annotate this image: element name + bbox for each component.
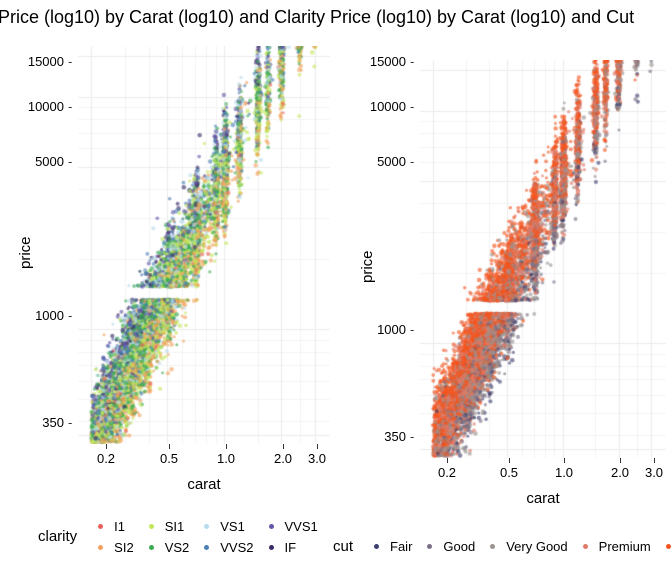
- y-tick-label-10000-right: 10000: [336, 100, 406, 113]
- legend-clarity: clarity I1SI2SI1VS2VS1VVS2VVS1IF: [38, 516, 322, 558]
- legend-cut-item-premium[interactable]: Premium: [572, 536, 655, 557]
- legend-item-label: Fair: [390, 540, 412, 554]
- legend-item-label: IF: [285, 541, 297, 555]
- legend-swatch-icon: [204, 524, 209, 529]
- y-tick-mark-15000-left: -: [68, 55, 72, 68]
- legend-item-label: I1: [114, 520, 125, 534]
- x-tick-mark-1.0-left: [226, 444, 227, 449]
- plot-cut: 15000 - 10000 - 5000 - 1000 - 350 - 0.2 …: [336, 34, 672, 500]
- x-tick-mark-0.2-left: [106, 444, 107, 449]
- x-tick-mark-0.5-left: [169, 444, 170, 449]
- x-tick-label-3.0-left: 3.0: [308, 452, 326, 465]
- x-tick-mark-3.0-left: [317, 444, 318, 449]
- legend-clarity-item-si2[interactable]: SI2: [87, 537, 138, 558]
- legend-item-label: Good: [443, 540, 475, 554]
- legend-swatch-icon: [583, 544, 588, 549]
- legend-item-label: SI1: [165, 520, 185, 534]
- legend-swatch-icon: [269, 524, 274, 529]
- plot-title-cut: Price (log10) by Carat (log10) and Cut: [330, 6, 634, 28]
- figure-canvas: Price (log10) by Carat (log10) and Clari…: [0, 0, 672, 576]
- y-tick-mark-10000-left: -: [68, 100, 72, 113]
- x-tick-label-0.2-left: 0.2: [97, 452, 115, 465]
- legend-swatch-icon: [98, 545, 103, 550]
- plot-panel-cut: [420, 60, 666, 458]
- y-tick-label-10000-left: 10000: [0, 100, 64, 113]
- y-tick-label-350-left: 350: [0, 416, 64, 429]
- x-tick-label-1.0-left: 1.0: [217, 452, 235, 465]
- legend-item-label: Very Good: [506, 540, 567, 554]
- legend-clarity-item-vvs1[interactable]: VVS1: [258, 516, 322, 537]
- legend-swatch-icon: [269, 545, 274, 550]
- y-tick-mark-10000-right: -: [410, 100, 414, 113]
- y-tick-mark-1000-right: -: [410, 323, 414, 336]
- legend-swatch-icon: [149, 524, 154, 529]
- legend-item-label: Premium: [599, 540, 651, 554]
- scatter-points-clarity: [78, 46, 330, 444]
- x-tick-label-0.5-left: 0.5: [160, 452, 178, 465]
- scatter-points-cut: [420, 60, 666, 458]
- legend-cut: cut FairGoodVery GoodPremiumIdeal: [333, 536, 672, 557]
- legend-cut-item-ideal[interactable]: Ideal: [655, 536, 672, 557]
- x-tick-label-0.5-right: 0.5: [500, 466, 518, 479]
- y-tick-label-1000-right: 1000: [336, 323, 406, 336]
- legend-swatch-icon: [666, 544, 671, 549]
- y-tick-label-5000-right: 5000: [336, 155, 406, 168]
- x-tick-label-1.0-right: 1.0: [555, 466, 573, 479]
- y-tick-label-350-right: 350: [336, 430, 406, 443]
- x-tick-mark-2.0-left: [283, 444, 284, 449]
- legend-item-label: VS2: [165, 541, 190, 555]
- y-tick-label-5000-left: 5000: [0, 155, 64, 168]
- legend-cut-item-very-good[interactable]: Very Good: [479, 536, 571, 557]
- legend-clarity-item-vs2[interactable]: VS2: [138, 537, 194, 558]
- x-tick-mark-0.2-right: [447, 458, 448, 463]
- legend-clarity-item-i1[interactable]: I1: [87, 516, 138, 537]
- y-tick-mark-350-left: -: [68, 416, 72, 429]
- legend-swatch-icon: [490, 544, 495, 549]
- legend-swatch-icon: [204, 545, 209, 550]
- legend-clarity-item-vs1[interactable]: VS1: [193, 516, 257, 537]
- legend-clarity-item-vvs2[interactable]: VVS2: [193, 537, 257, 558]
- x-axis-title-left: carat: [187, 477, 220, 493]
- legend-swatch-icon: [98, 524, 103, 529]
- legend-title-cut: cut: [333, 539, 353, 555]
- legend-clarity-item-if[interactable]: IF: [258, 537, 322, 558]
- y-tick-mark-1000-left: -: [68, 309, 72, 322]
- legend-swatch-icon: [427, 544, 432, 549]
- plot-panel-clarity: [78, 46, 330, 444]
- x-tick-label-0.2-right: 0.2: [438, 466, 456, 479]
- y-tick-mark-5000-left: -: [68, 155, 72, 168]
- legend-swatch-icon: [374, 544, 379, 549]
- legend-item-label: VVS1: [285, 520, 318, 534]
- legend-clarity-items: I1SI2SI1VS2VS1VVS2VVS1IF: [87, 516, 322, 558]
- x-tick-mark-0.5-right: [509, 458, 510, 463]
- y-axis-title-right: price: [360, 250, 376, 283]
- legend-item-label: VS1: [220, 520, 245, 534]
- x-tick-mark-3.0-right: [654, 458, 655, 463]
- x-tick-mark-1.0-right: [564, 458, 565, 463]
- x-tick-mark-2.0-right: [620, 458, 621, 463]
- legend-cut-item-fair[interactable]: Fair: [363, 536, 416, 557]
- y-tick-label-1000-left: 1000: [0, 309, 64, 322]
- legend-cut-items: FairGoodVery GoodPremiumIdeal: [363, 536, 672, 557]
- legend-title-clarity: clarity: [38, 529, 77, 545]
- y-tick-mark-15000-right: -: [410, 55, 414, 68]
- y-tick-mark-350-right: -: [410, 430, 414, 443]
- y-tick-mark-5000-right: -: [410, 155, 414, 168]
- legend-cut-item-good[interactable]: Good: [416, 536, 479, 557]
- legend-item-label: VVS2: [220, 541, 253, 555]
- y-axis-title-left: price: [18, 236, 34, 269]
- x-tick-label-2.0-left: 2.0: [274, 452, 292, 465]
- plot-clarity: 15000 - 10000 - 5000 - 1000 - 350 - 0.2 …: [0, 34, 336, 500]
- y-tick-label-15000-right: 15000: [336, 55, 406, 68]
- plot-title-clarity: Price (log10) by Carat (log10) and Clari…: [0, 6, 325, 28]
- legend-item-label: SI2: [114, 541, 134, 555]
- legend-swatch-icon: [149, 545, 154, 550]
- legend-clarity-item-si1[interactable]: SI1: [138, 516, 194, 537]
- x-axis-title-right: carat: [526, 491, 559, 507]
- x-tick-label-2.0-right: 2.0: [611, 466, 629, 479]
- y-tick-label-15000-left: 15000: [0, 55, 64, 68]
- x-tick-label-3.0-right: 3.0: [645, 466, 663, 479]
